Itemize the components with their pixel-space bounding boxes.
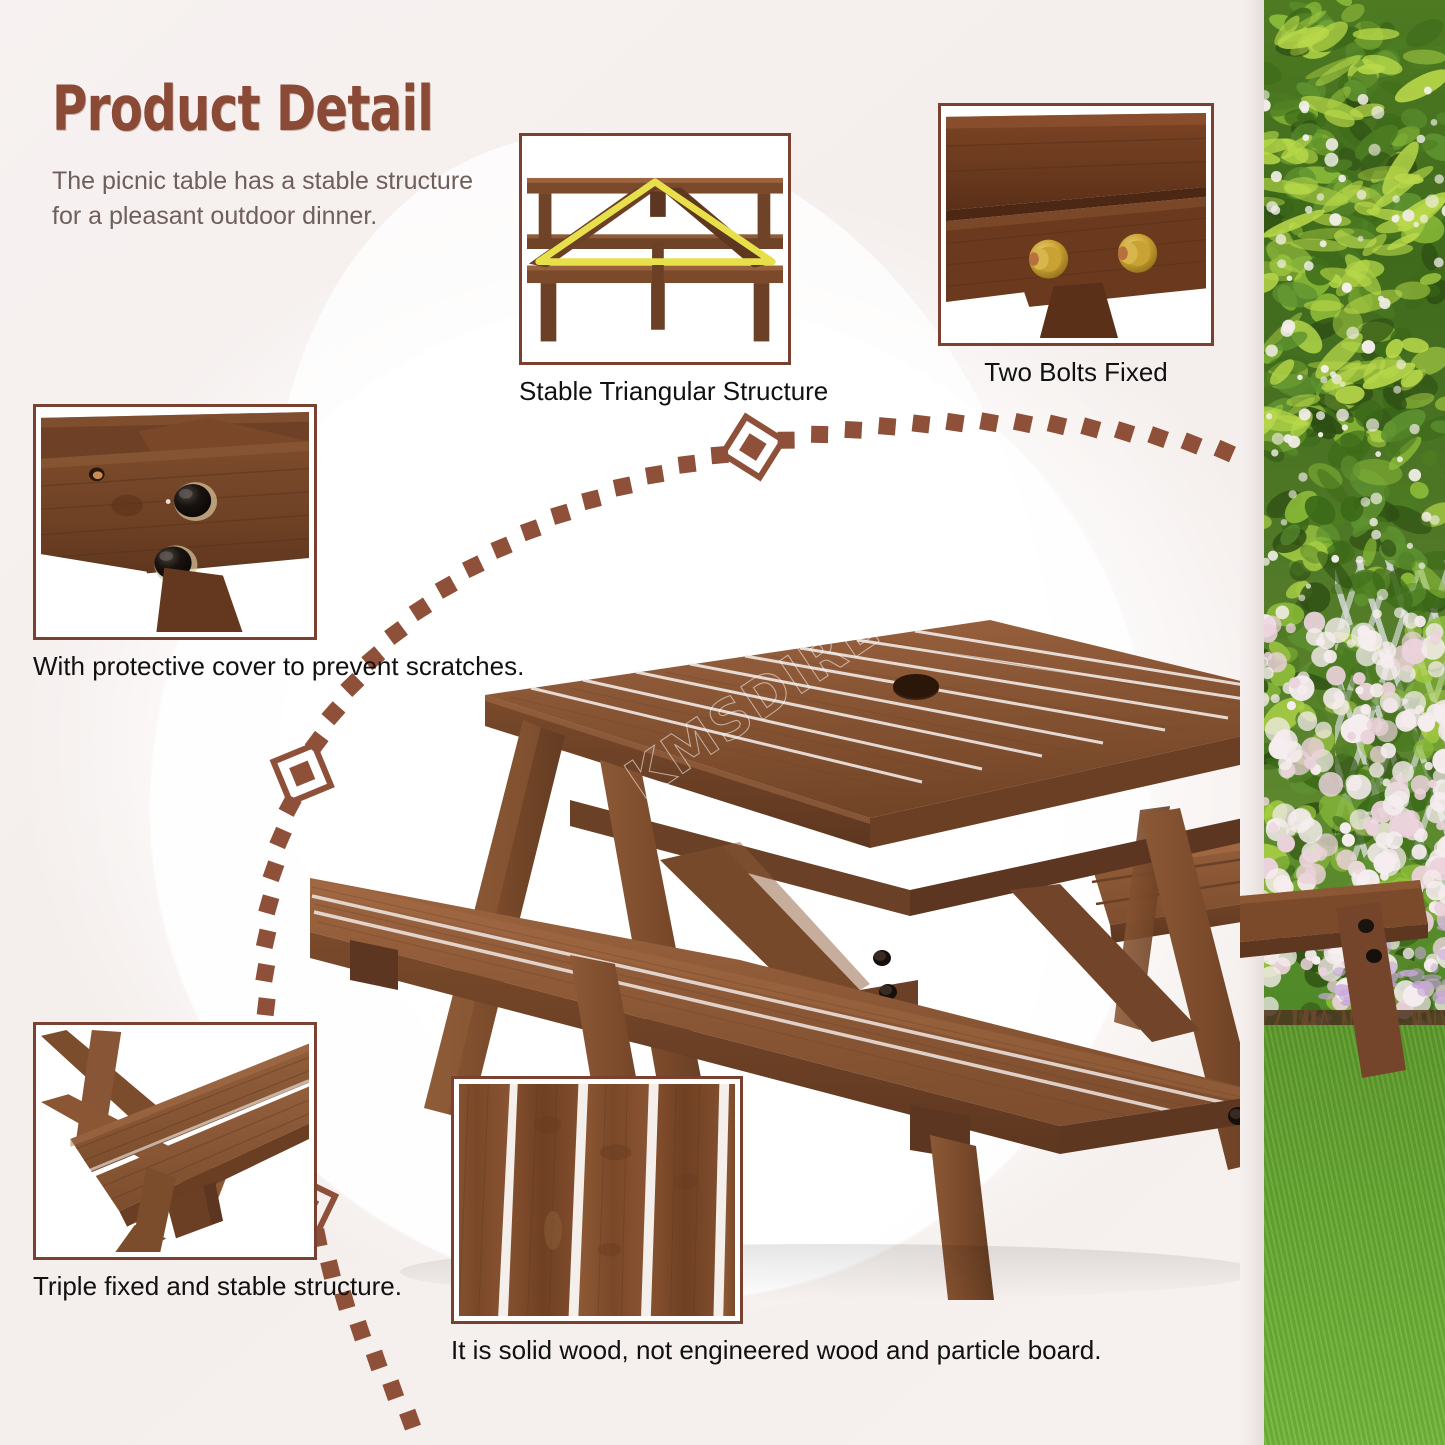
photo-left-edge-fade	[1240, 0, 1264, 1445]
callout-triple-fixed: Triple fixed and stable structure.	[33, 1022, 402, 1303]
callout-image-solid-wood	[459, 1084, 735, 1316]
callout-frame	[938, 103, 1214, 346]
arc-dot	[1013, 413, 1033, 433]
callout-caption: It is solid wood, not engineered wood an…	[451, 1333, 1101, 1367]
page-title: Product Detail	[52, 78, 419, 140]
arc-dot	[945, 413, 964, 432]
arc-dot	[811, 426, 828, 443]
arc-dot	[399, 1409, 421, 1431]
callout-frame	[33, 404, 317, 640]
bolt-left	[1029, 240, 1068, 279]
arc-dot	[711, 446, 729, 464]
callout-two-bolts-fixed: Two Bolts Fixed	[938, 103, 1214, 389]
callout-frame	[451, 1076, 743, 1324]
callout-frame	[33, 1022, 317, 1260]
page-subtitle: The picnic table has a stable structure …	[52, 164, 482, 233]
callout-caption: With protective cover to prevent scratch…	[33, 649, 524, 683]
callout-caption: Triple fixed and stable structure.	[33, 1269, 402, 1303]
infographic-page: Product Detail The picnic table has a st…	[0, 0, 1445, 1445]
garden-photo-strip	[1240, 0, 1445, 1445]
callout-caption: Stable Triangular Structure	[519, 374, 828, 408]
bench-extension-in-photo	[1240, 880, 1445, 1110]
arc-dot	[678, 455, 697, 474]
callout-image-triple-fixed	[41, 1030, 309, 1252]
arc-dot	[550, 504, 571, 525]
callout-protective-cover: With protective cover to prevent scratch…	[33, 404, 524, 683]
callout-frame	[519, 133, 791, 365]
callout-image-two-bolts-fixed	[946, 111, 1206, 338]
callout-solid-wood: It is solid wood, not engineered wood an…	[451, 1076, 1101, 1367]
arc-dot	[1147, 426, 1169, 448]
arc-dot	[645, 465, 665, 485]
arc-dot	[777, 432, 794, 449]
arc-dot	[1047, 415, 1068, 436]
arc-dot	[350, 1320, 372, 1342]
arc-dot	[1213, 440, 1235, 462]
callout-image-protective-cover	[41, 412, 309, 632]
callout-image-stable-triangular-structure	[527, 141, 783, 357]
callout-caption: Two Bolts Fixed	[938, 355, 1214, 389]
arc-dot	[979, 412, 999, 432]
arc-marker	[722, 417, 783, 478]
callout-stable-triangular-structure: Stable Triangular Structure	[519, 133, 828, 408]
protective-cap-upper	[174, 482, 217, 521]
arc-dot	[613, 477, 633, 497]
arc-dot	[382, 1379, 404, 1401]
arc-dot	[844, 421, 862, 439]
arc-dot	[1080, 417, 1101, 438]
arc-dot	[366, 1350, 388, 1372]
arc-dot	[878, 417, 896, 435]
arc-dot	[581, 489, 602, 510]
bolt-right	[1118, 234, 1157, 273]
arc-dot	[912, 415, 931, 434]
header-block: Product Detail The picnic table has a st…	[52, 78, 522, 233]
arc-dot	[1114, 421, 1135, 442]
arc-dot	[1181, 432, 1203, 454]
